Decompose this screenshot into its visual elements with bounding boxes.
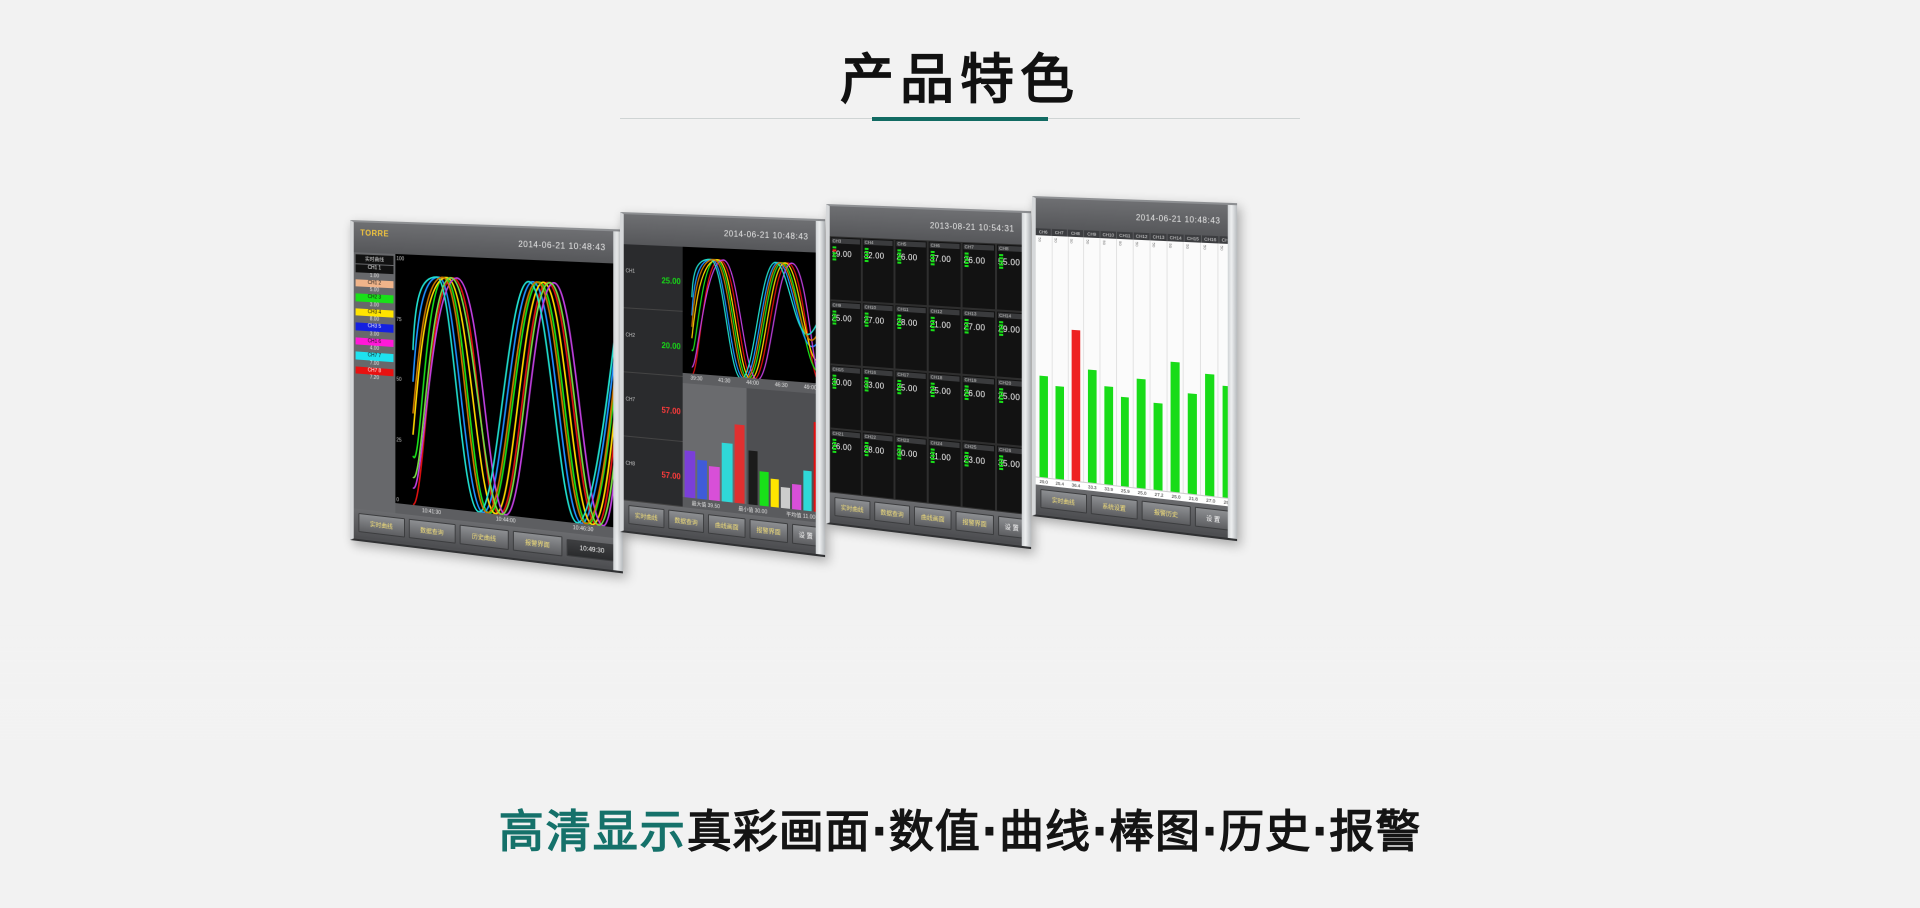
value-tag: CH13 [964,310,994,317]
bar [1072,329,1080,481]
channel-strip-header: 实时曲线 [356,254,394,265]
led-bar [865,442,869,457]
led-bar [999,254,1003,269]
button-curve-screen[interactable]: 曲线画面 [914,506,951,530]
led-bar [833,375,837,389]
led-bar [965,319,969,334]
bar [709,466,719,501]
bargraph-column: 50 [1167,241,1184,493]
led-bar [865,312,869,326]
page-title: 产品特色 [0,35,1920,114]
numeric-cell[interactable]: CH8 57.00 [624,436,683,507]
device-2-timestamp: 2014-06-21 10:48:43 [724,228,809,241]
device-2-screen: CH1 25.00 CH2 20.00 CH7 57.00 [624,244,825,523]
numeric-value: 25.00 [626,274,681,286]
button-realtime-curve[interactable]: 实时曲线 [358,513,404,538]
bargraph-column: 50 [1150,240,1167,491]
led-bar [833,310,837,324]
channel-item[interactable]: CH1 11.00 [356,264,394,279]
value-cell[interactable]: CH2330.00 [894,435,927,504]
bar [803,470,812,511]
reflection-fade-mask [0,620,1920,750]
value-tag: CH10 [864,304,893,311]
x-tick: 10:41:30 [422,508,441,516]
value-tag: CH18 [930,374,960,382]
led-bar [965,452,969,467]
bar [1205,374,1214,496]
value-cell[interactable]: CH1221.00 [928,306,962,374]
device-1-screen: 实时曲线 CH1 11.00 CH1 25.00 CH2 33.00 CH3 4… [354,252,623,539]
led-bar [999,455,1003,470]
bargraph-scale: 50 [1069,239,1074,244]
x-tick: 41:30 [718,378,730,385]
button-realtime-curve[interactable]: 实时曲线 [834,497,870,520]
device-3-screen: CH319.00 CH432.00 CH526.00 CH637.00 CH72… [830,236,1031,515]
led-bar [999,388,1003,403]
button-curve-screen[interactable]: 曲线画面 [708,514,745,538]
x-tick: 44:00 [746,380,759,387]
bargraph-column: 50 [1184,242,1201,495]
clock-display: 10:49:30 [567,538,618,561]
bar [1104,386,1113,485]
caption-highlight: 高清显示 [499,805,687,858]
led-bar [931,251,935,266]
numeric-cell[interactable]: CH7 57.00 [624,372,683,442]
bar [1040,375,1048,477]
value-cell[interactable]: CH925.00 [830,300,862,367]
x-tick: 10:46:30 [573,525,594,534]
value-cell[interactable]: CH1926.00 [962,375,996,445]
button-alarm-screen[interactable]: 报警界面 [956,511,994,535]
numeric-cell[interactable]: CH1 25.00 [624,244,683,312]
value-cell[interactable]: CH1530.00 [830,364,862,431]
trend-curves-svg [395,254,623,539]
bargraph-scale: 50 [1038,237,1043,242]
bargraph-scale: 50 [1185,244,1190,249]
button-data-query[interactable]: 数据查询 [668,510,704,534]
channel-item[interactable]: CH2 33.00 [356,293,394,309]
device-1: TORRE 2014-06-21 10:48:43 实时曲线 CH1 11.00… [350,220,623,573]
x-tick: 46:30 [775,382,788,389]
bargraph-body[interactable]: 50 50 50 50 50 50 50 50 50 50 50 50 [1036,235,1237,499]
device-1-timestamp: 2014-06-21 10:48:43 [518,239,606,252]
page-header: 产品特色 [0,0,1920,150]
title-divider [620,117,1300,120]
device-reflection [0,620,1920,750]
brand-logo: TORRE [360,228,389,238]
channel-item[interactable]: CH1 25.00 [356,279,394,295]
channel-item[interactable]: CH3 48.00 [356,308,394,324]
divider-accent-rule [872,117,1048,121]
led-bar [897,380,901,395]
bar-footer-max: 最大值 39.50 [692,499,720,509]
bar [760,472,769,507]
digital-values-grid: CH319.00 CH432.00 CH526.00 CH637.00 CH72… [830,236,1031,515]
bargraph-column: 50 [1037,235,1053,478]
value-tag: CH12 [930,308,960,315]
led-bar [833,439,837,453]
value-tag: CH11 [896,306,925,313]
device-2-right-panel: 39:30 41:30 44:00 46:30 49:00 [683,247,825,524]
bargraph-scale: 50 [1151,242,1156,247]
device-1-bezel: TORRE 2014-06-21 10:48:43 实时曲线 CH1 11.00… [350,220,623,573]
bargraph-column: 50 [1117,239,1134,487]
x-tick: 39:30 [690,376,702,383]
bargraph-view: CH6 CH7 CH8 CH9 CH10 CH11 CH12 CH13 CH14… [1036,228,1237,507]
led-bar [833,246,837,260]
value-tag: CH19 [964,377,994,385]
bar [734,424,745,504]
bar [781,487,790,508]
bargraph-column: 50 [1134,240,1151,490]
value-cell[interactable]: CH1027.00 [862,302,895,369]
bar [1056,386,1064,479]
device-4-timestamp: 2014-06-21 10:48:43 [1136,212,1221,225]
device-4-bezel: 2014-06-21 10:48:43 CH6 CH7 CH8 CH9 CH10… [1032,196,1237,541]
led-bar [897,249,901,263]
bar-footer-min: 最小值 30.00 [738,505,767,516]
trend-curves-svg [683,247,825,395]
trend-graph[interactable]: 39:30 41:30 44:00 46:30 49:00 [683,247,825,395]
led-bar [931,317,935,332]
bar [722,443,733,502]
value-cell[interactable]: CH726.00 [962,242,996,310]
led-bar [897,445,901,460]
value-cell[interactable]: CH432.00 [862,238,895,305]
value-cell[interactable]: CH2431.00 [928,438,962,508]
channel-strip: 实时曲线 CH1 11.00 CH1 25.00 CH2 33.00 CH3 4… [354,252,396,513]
value-tag: CH3 [832,238,860,244]
bargraph-column: 50 [1101,238,1117,485]
bar [749,450,758,505]
device-4-screen: CH6 CH7 CH8 CH9 CH10 CH11 CH12 CH13 CH14… [1036,228,1237,507]
value-cell[interactable]: CH319.00 [830,236,862,302]
value-tag: CH16 [864,369,893,376]
feature-caption: 高清显示真彩画面·数值·曲线·棒图·历史·报警 [0,795,1920,860]
device-3-timestamp: 2013-08-21 10:54:31 [930,220,1015,233]
value-cell[interactable]: CH1128.00 [894,304,927,372]
device-2-bezel: 2014-06-21 10:48:43 CH1 25.00 CH2 20.00 [620,212,825,557]
led-bar [965,252,969,267]
bargraph-column: 50 [1068,237,1084,482]
value-tag: CH15 [832,366,860,373]
device-showcase: TORRE 2014-06-21 10:48:43 实时曲线 CH1 11.00… [0,190,1920,620]
value-tag: CH7 [964,244,994,251]
led-bar [897,315,901,330]
caption-rest: 真彩画面·数值·曲线·棒图·历史·报警 [687,805,1421,858]
bargraph-column: 50 [1201,243,1218,497]
channel-item[interactable]: CH1 64.00 [356,337,394,353]
bar [697,460,707,500]
bar [1088,370,1097,484]
value-cell[interactable]: CH2228.00 [862,431,895,499]
value-cell[interactable]: CH526.00 [894,239,927,306]
button-alarm-screen[interactable]: 报警界面 [750,519,788,543]
value-tag: CH24 [930,440,960,448]
channel-item[interactable]: CH3 53.00 [356,322,394,338]
value-tag: CH25 [964,443,994,451]
value-tag: CH23 [896,437,925,445]
button-data-query[interactable]: 数据查询 [408,519,455,544]
button-history-curve[interactable]: 历史曲线 [460,525,509,550]
channel-item[interactable]: CH7 77.00 [356,351,394,367]
bar-group-left[interactable] [683,383,747,514]
button-realtime-curve[interactable]: 实时曲线 [628,505,664,528]
device-2-right-edge [816,221,825,555]
value-tag: CH9 [832,302,860,309]
button-realtime-curve[interactable]: 实时曲线 [1040,489,1086,514]
bargraph-scale: 50 [1202,245,1207,250]
value-tag: CH4 [864,240,893,246]
bar [1137,379,1146,489]
device-3-bezel: 2013-08-21 10:54:31 CH319.00 CH432.00 CH… [826,204,1031,549]
value-cell[interactable]: CH2126.00 [830,428,862,496]
device-4-right-edge [1228,205,1237,539]
bar-footer-avg: 平均值 11.00 [786,510,815,521]
button-alarm-history[interactable]: 报警历史 [1142,501,1191,526]
value-tag: CH17 [896,372,925,379]
bargraph-scale: 50 [1102,240,1107,245]
led-bar [865,377,869,391]
bar [1188,393,1197,495]
value-cell[interactable]: CH1327.00 [962,308,996,377]
device-4: 2014-06-21 10:48:43 CH6 CH7 CH8 CH9 CH10… [1032,196,1237,541]
device-3: 2013-08-21 10:54:31 CH319.00 CH432.00 CH… [826,204,1031,549]
bargraph-scale: 50 [1118,241,1123,246]
value-cell[interactable]: CH1825.00 [928,372,962,441]
button-settings[interactable]: 设 置 [1195,507,1232,531]
led-bar [965,385,969,400]
channel-item[interactable]: CH7 87.20 [356,366,394,382]
bar [770,478,779,507]
value-tag: CH22 [864,434,893,442]
bar [1171,361,1180,492]
bar [685,451,695,499]
bargraph-column: 50 [1085,237,1101,483]
bar [792,484,801,510]
value-cell[interactable]: CH2523.00 [962,441,996,511]
bar [1154,402,1163,490]
bar [1121,397,1130,487]
button-data-query[interactable]: 数据查询 [874,502,910,526]
numeric-column: CH1 25.00 CH2 20.00 CH7 57.00 [624,244,683,507]
value-cell[interactable]: CH637.00 [928,240,962,308]
bargraph-scale: 50 [1168,243,1173,248]
bar-group-right[interactable] [747,388,825,523]
bargraph-scale: 50 [1053,238,1058,243]
bargraph-scale: 50 [1135,242,1140,247]
bar-graph-panel: 最大值 39.50 最小值 30.00 平均值 11.00 [683,383,825,523]
value-tag: CH21 [832,431,860,439]
bargraph-scale: 50 [1220,246,1225,251]
led-bar [931,383,935,398]
led-bar [865,248,869,262]
value-cell[interactable]: CH1725.00 [894,369,927,437]
value-tag: CH5 [896,241,925,247]
x-tick: 10:44:00 [496,516,516,524]
button-system-settings[interactable]: 系统设置 [1090,495,1137,520]
bargraph-column: 50 [1052,236,1068,480]
button-alarm-screen[interactable]: 报警界面 [512,531,562,557]
device-2: 2014-06-21 10:48:43 CH1 25.00 CH2 20.00 [620,212,825,557]
led-bar [999,321,1003,336]
value-tag: CH6 [930,243,960,250]
trend-graph[interactable]: 100 75 50 25 0 [395,254,623,539]
value-cell[interactable]: CH1633.00 [862,367,895,435]
device-3-right-edge [1022,213,1031,547]
numeric-cell[interactable]: CH2 20.00 [624,308,683,377]
led-bar [931,448,935,463]
product-features-page: 产品特色 TORRE 2014-06-21 10:48:43 实时曲线 CH1 … [0,0,1920,908]
bargraph-scale: 50 [1086,239,1091,244]
